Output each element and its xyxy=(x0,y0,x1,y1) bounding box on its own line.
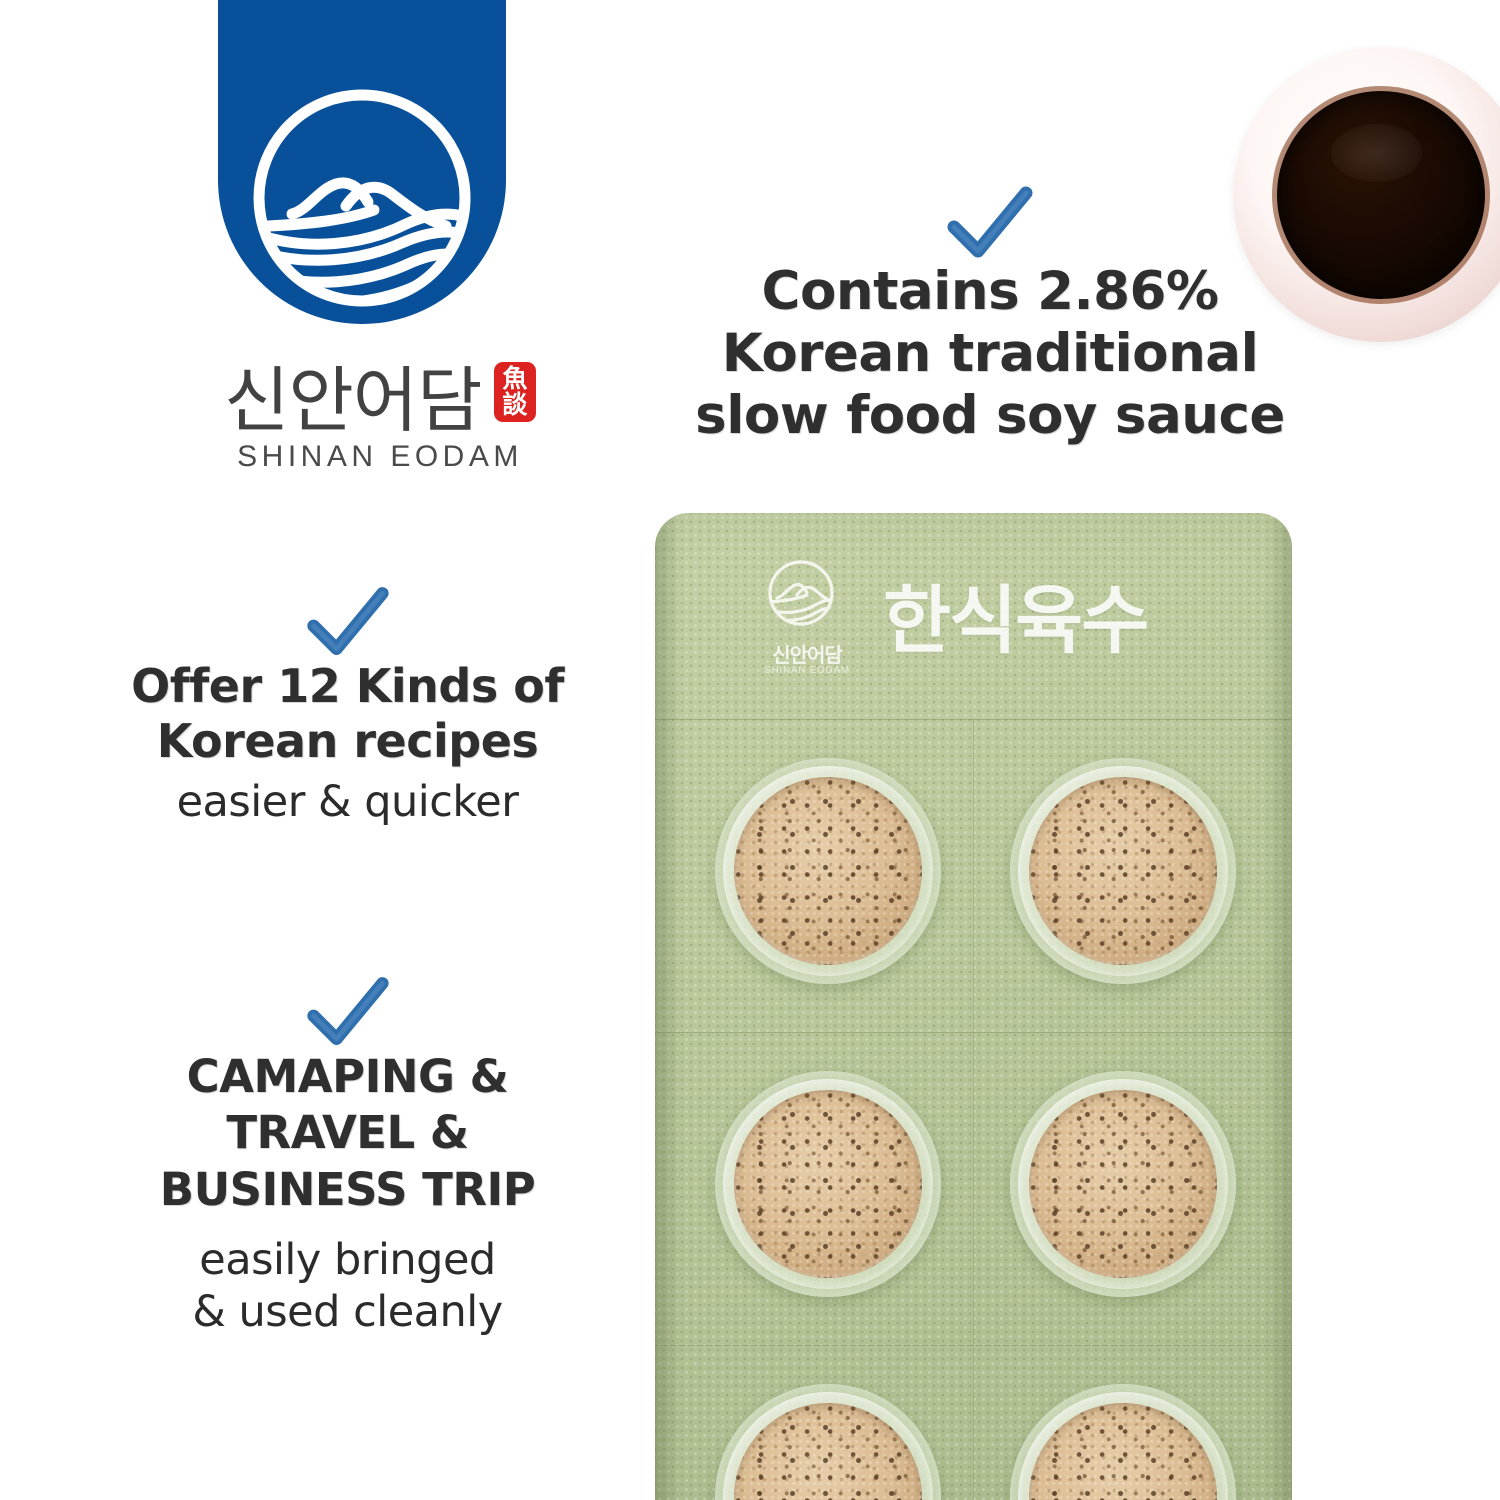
pack-label: 신안어담 SHINAN EODAM 한식육수 xyxy=(765,555,1275,695)
pack-left-shading xyxy=(655,513,681,1500)
brand-shield xyxy=(218,0,506,324)
broth-powder xyxy=(1029,777,1217,965)
broth-cup xyxy=(715,1384,941,1500)
product-feature-graphic: 신안어담 魚 談 SHINAN EODAM xyxy=(0,0,1500,1500)
broth-cup xyxy=(1010,758,1236,984)
blue-check-icon xyxy=(304,975,392,1049)
broth-cup xyxy=(1010,1071,1236,1297)
pack-perforation-line xyxy=(973,719,974,1500)
feature-recipes: Offer 12 Kinds of Korean recipes easier … xyxy=(75,585,620,829)
brand-logo-block: 신안어담 魚 談 SHINAN EODAM xyxy=(180,0,580,500)
soy-sauce-highlight xyxy=(1331,124,1423,182)
blue-check-icon xyxy=(304,585,392,659)
subline-line: easily bringed xyxy=(75,1234,620,1286)
headline-line: Korean traditional xyxy=(660,323,1320,385)
seal-char-bottom: 談 xyxy=(494,392,536,417)
headline-line: Offer 12 Kinds of xyxy=(75,659,620,714)
broth-powder xyxy=(734,1090,922,1278)
shinan-eodam-shield-emblem-icon xyxy=(250,86,474,310)
pack-brand-korean: 신안어담 xyxy=(759,639,855,668)
seal-char-top: 魚 xyxy=(494,366,536,391)
feature-travel-subline: easily bringed & used cleanly xyxy=(75,1234,620,1339)
broth-cup xyxy=(715,1071,941,1297)
product-blister-pack: 신안어담 SHINAN EODAM 한식육수 xyxy=(655,513,1292,1500)
feature-travel: CAMAPING & TRAVEL & BUSINESS TRIP easily… xyxy=(75,975,620,1339)
feature-recipes-subline: easier & quicker xyxy=(75,777,620,829)
headline-line: BUSINESS TRIP xyxy=(75,1162,620,1218)
broth-cup xyxy=(715,758,941,984)
brand-seal-stamp: 魚 談 xyxy=(494,362,536,422)
brand-korean-name: 신안어담 xyxy=(224,344,481,446)
headline-line: Contains 2.86% xyxy=(660,261,1320,323)
feature-recipes-headline: Offer 12 Kinds of Korean recipes xyxy=(75,659,620,769)
pack-brand-latin: SHINAN EODAM xyxy=(759,665,855,676)
headline-line: CAMAPING & xyxy=(75,1049,620,1105)
subline-line: easier & quicker xyxy=(75,777,620,829)
feature-soy-headline: Contains 2.86% Korean traditional slow f… xyxy=(660,261,1320,447)
broth-powder xyxy=(1029,1090,1217,1278)
feature-soy-sauce: Contains 2.86% Korean traditional slow f… xyxy=(660,185,1320,447)
brand-korean-name-row: 신안어담 魚 談 xyxy=(180,344,580,446)
headline-line: TRAVEL & xyxy=(75,1105,620,1161)
subline-line: & used cleanly xyxy=(75,1286,620,1338)
feature-travel-headline: CAMAPING & TRAVEL & BUSINESS TRIP xyxy=(75,1049,620,1218)
brand-latin-name: SHINAN EODAM xyxy=(180,440,580,474)
blue-check-icon xyxy=(944,185,1036,261)
broth-cup xyxy=(1010,1384,1236,1500)
broth-powder xyxy=(734,777,922,965)
shinan-eodam-circle-emblem-icon xyxy=(765,557,837,635)
headline-line: slow food soy sauce xyxy=(660,385,1320,447)
pack-product-name-korean: 한식육수 xyxy=(883,561,1147,668)
headline-line: Korean recipes xyxy=(75,714,620,769)
